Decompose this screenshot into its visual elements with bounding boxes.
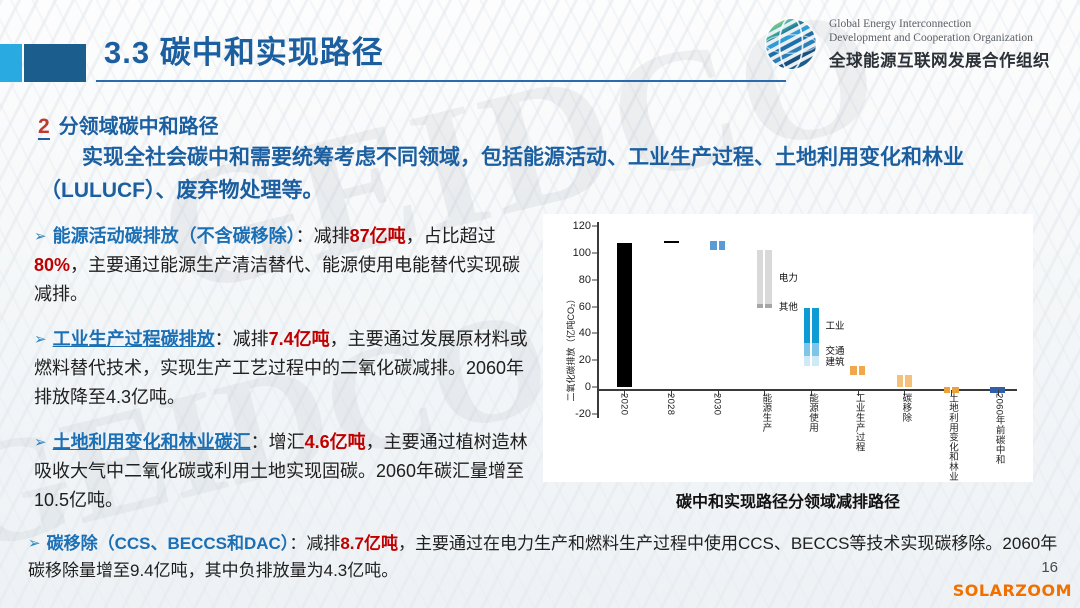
logo-english-line1: Global Energy Interconnection xyxy=(829,17,1050,31)
chart-segment-annotation: 电力 xyxy=(779,270,798,284)
slide-header: 3.3 碳中和实现路径 xyxy=(0,0,1080,92)
page-title: 3.3 碳中和实现路径 xyxy=(104,27,384,72)
bullet-head: 碳移除（CCS、BECCS和DAC） xyxy=(47,534,290,553)
chart-y-tick-mark xyxy=(592,306,597,307)
chart-y-tick-label: 120 xyxy=(573,220,591,232)
chart-x-tick-label: 碳移除 xyxy=(898,393,912,422)
chart-y-tick-label: 0 xyxy=(585,381,591,393)
bullet-colon: ： xyxy=(251,432,269,452)
section-number: 2 xyxy=(38,116,50,140)
bullet-text-1: 减排 xyxy=(306,534,340,553)
chart-segment-annotation: 建筑 xyxy=(826,354,845,368)
bullet-text-1: 减排 xyxy=(233,329,269,349)
chart-y-tick-label: 100 xyxy=(573,247,591,259)
chart-y-tick-label: 80 xyxy=(579,274,591,286)
globe-logo-icon xyxy=(762,15,820,73)
bullet-arrow-icon: ➢ xyxy=(34,331,47,348)
bullet-value-1: 7.4亿吨 xyxy=(269,329,330,349)
chart-y-tick-mark xyxy=(592,252,597,253)
chart-y-tick-label: -20 xyxy=(575,408,591,420)
bullet-item-energy-activity: ➢能源活动碳排放（不含碳移除）：减排87亿吨，占比超过80%，主要通过能源生产清… xyxy=(34,222,534,309)
bullet-value-1: 4.6亿吨 xyxy=(305,432,366,452)
chart-y-tick-mark xyxy=(592,360,597,361)
chart-x-tick-label: 2060年前碳中和 xyxy=(992,393,1006,464)
bullet-colon: ： xyxy=(215,329,233,349)
page-number: 16 xyxy=(1041,559,1058,576)
bullet-text-1: 增汇 xyxy=(269,432,305,452)
bullet-item-industrial-process: ➢工业生产过程碳排放：减排7.4亿吨，主要通过发展原材料或燃料替代技术，实现生产… xyxy=(34,325,534,412)
bullet-colon: ： xyxy=(296,226,314,246)
bullet-head: 工业生产过程碳排放 xyxy=(53,329,215,349)
bullet-text-2: ，占比超过 xyxy=(406,226,496,246)
chart-bar-divider xyxy=(903,375,905,387)
chart-bar-divider xyxy=(717,241,719,250)
section-title: 分领域碳中和路径 xyxy=(59,110,219,139)
chart-x-tick-label: 2030 xyxy=(712,393,723,415)
bullet-arrow-icon: ➢ xyxy=(34,434,47,451)
organization-logo: Global Energy Interconnection Developmen… xyxy=(762,10,1062,78)
section-lead-paragraph: 实现全社会碳中和需要统筹考虑不同领域，包括能源活动、工业生产过程、土地利用变化和… xyxy=(40,142,1040,207)
header-accent-square-dark xyxy=(24,44,86,82)
bullet-text-3: ，主要通过能源生产清洁替代、能源使用电能替代实现碳减排。 xyxy=(34,255,520,304)
logo-english-line2: Development and Cooperation Organization xyxy=(829,31,1050,45)
bullet-value-2: 80% xyxy=(34,255,70,275)
bullet-head: 土地利用变化和林业碳汇 xyxy=(53,432,251,452)
chart-y-tick-mark xyxy=(592,414,597,415)
chart-y-tick-label: 60 xyxy=(579,301,591,313)
bullet-head: 能源活动碳排放（不含碳移除） xyxy=(53,226,296,246)
chart-y-tick-label: 40 xyxy=(579,327,591,339)
chart-y-tick-mark xyxy=(592,387,597,388)
chart-bar-divider xyxy=(810,308,812,366)
chart-segment-annotation: 其他 xyxy=(779,299,798,313)
bullet-arrow-icon: ➢ xyxy=(28,535,41,552)
source-watermark: SOLARZOOM xyxy=(953,581,1072,600)
bullet-arrow-icon: ➢ xyxy=(34,228,47,245)
chart-x-tick-label: 工业生产过程 xyxy=(852,393,866,452)
chart-y-tick-mark xyxy=(592,333,597,334)
chart-x-tick-label: 能源使用 xyxy=(805,393,819,432)
bullet-value-1: 87亿吨 xyxy=(350,226,406,246)
logo-chinese-name: 全球能源互联网发展合作组织 xyxy=(829,47,1050,71)
bullet-text-1: 减排 xyxy=(314,226,350,246)
chart-x-tick-label: 能源生产 xyxy=(758,393,772,432)
header-divider xyxy=(96,80,786,82)
chart-bar xyxy=(664,241,679,243)
chart-x-tick-label: 2028 xyxy=(665,393,676,415)
chart-plot-area: 120100806040200-20202020282030电力其他能源生产工业… xyxy=(597,226,1017,414)
chart-bar-divider xyxy=(763,250,765,308)
chart-title: 碳中和实现路径分领域减排路径 xyxy=(543,488,1033,512)
chart-y-axis-label: 二氧化碳排放（亿吨CO₂） xyxy=(564,295,577,402)
header-accent-square-light xyxy=(0,44,22,82)
bullet-item-lulucf: ➢土地利用变化和林业碳汇：增汇4.6亿吨，主要通过植树造林吸收大气中二氧化碳或利… xyxy=(34,428,534,515)
chart-segment-annotation: 工业 xyxy=(826,318,845,332)
waterfall-chart: 二氧化碳排放（亿吨CO₂） 120100806040200-2020202028… xyxy=(543,214,1033,482)
section-heading: 2 分领域碳中和路径 xyxy=(38,110,219,140)
bullet-value-1: 8.7亿吨 xyxy=(340,534,398,553)
bullet-item-carbon-removal: ➢碳移除（CCS、BECCS和DAC）：减排8.7亿吨，主要通过在电力生产和燃料… xyxy=(28,530,1058,584)
bullet-colon: ： xyxy=(289,534,306,553)
chart-bar-divider xyxy=(857,366,859,375)
chart-y-tick-mark xyxy=(592,279,597,280)
chart-x-tick-label: 2020 xyxy=(618,393,629,415)
chart-x-tick-label: 土地利用变化和林业 xyxy=(945,393,959,481)
chart-y-tick-label: 20 xyxy=(579,354,591,366)
chart-y-tick-mark xyxy=(592,226,597,227)
